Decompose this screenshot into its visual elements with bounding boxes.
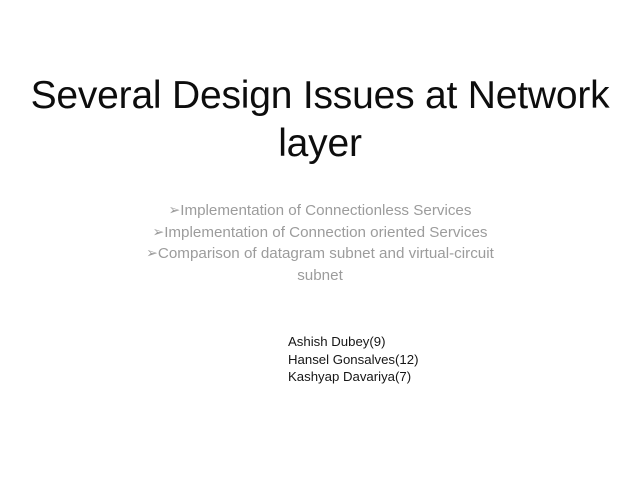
presentation-slide: Several Design Issues at Network layer ➢… [0, 0, 640, 480]
slide-title: Several Design Issues at Network layer [30, 72, 610, 168]
arrowhead-bullet-icon: ➢ [169, 200, 181, 222]
author-list: Ashish Dubey(9) Hansel Gonsalves(12) Kas… [288, 333, 418, 386]
bullet-item-1-label: Implementation of Connectionless Service… [180, 202, 471, 219]
bullet-item-3-label: Comparison of datagram subnet and virtua… [158, 245, 494, 262]
author-name-2: Hansel Gonsalves(12) [288, 351, 418, 369]
arrowhead-bullet-icon: ➢ [152, 221, 164, 243]
bullet-list: ➢Implementation of Connectionless Servic… [60, 200, 580, 286]
author-name-3: Kashyap Davariya(7) [288, 368, 418, 386]
bullet-item-2: ➢Implementation of Connection oriented S… [60, 222, 580, 244]
bullet-item-1: ➢Implementation of Connectionless Servic… [60, 200, 580, 222]
bullet-item-3: ➢Comparison of datagram subnet and virtu… [60, 243, 580, 265]
bullet-item-2-label: Implementation of Connection oriented Se… [164, 224, 487, 241]
title-line-2: layer [30, 120, 610, 168]
bullet-item-3-continuation: subnet [60, 265, 580, 287]
author-name-1: Ashish Dubey(9) [288, 333, 418, 351]
title-line-1: Several Design Issues at Network [30, 72, 610, 120]
arrowhead-bullet-icon: ➢ [146, 243, 158, 265]
